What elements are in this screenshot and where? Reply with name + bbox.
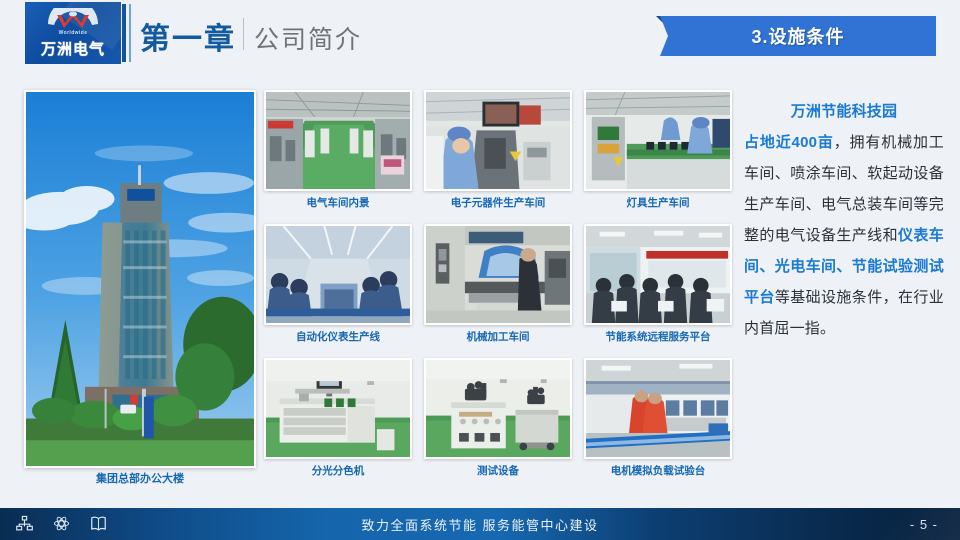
title-divider-thick	[122, 4, 126, 62]
photo-testing-equipment	[424, 358, 572, 459]
photo-spectrophotometer-machine	[264, 358, 412, 459]
logo-subtitle: Worldwide	[25, 30, 121, 36]
photo-illustration	[266, 360, 410, 457]
page-header: Worldwide 万洲电气 第一章 公司简介 3.设施条件	[0, 0, 960, 80]
photo-illustration	[426, 92, 570, 189]
photo-electronic-components-workshop	[424, 90, 572, 191]
photo-illustration	[586, 360, 730, 457]
chapter-separator	[243, 18, 244, 50]
grid-cell-0: 电气车间内景	[264, 90, 412, 210]
grid-cell-6: 分光分色机	[264, 358, 412, 478]
grid-cell-2: 灯具生产车间	[584, 90, 732, 210]
grid-cell-7: 测试设备	[424, 358, 572, 478]
title-divider-thin	[129, 4, 131, 62]
ribbon-label: 3.设施条件	[751, 23, 844, 49]
photo-illustration	[266, 92, 410, 189]
photo-illustration	[586, 92, 730, 189]
photo-machining-workshop	[424, 224, 572, 325]
grid-caption-4: 机械加工车间	[424, 329, 572, 344]
company-logo: Worldwide 万洲电气	[25, 2, 121, 64]
copy-line-6: 等基础设施条件，在行业内首屈一指。	[744, 289, 944, 337]
chapter-subtitle: 公司简介	[254, 20, 362, 56]
w-emblem-icon	[44, 8, 102, 32]
grid-cell-8: 电机模拟负载试验台	[584, 358, 732, 478]
grid-cell-4: 机械加工车间	[424, 224, 572, 344]
copy-line-1: 万洲节能科技园	[744, 96, 944, 127]
photo-motor-load-test-bench	[584, 358, 732, 459]
footer-slogan: 致力全面系统节能 服务能管中心建设	[0, 508, 960, 540]
grid-caption-7: 测试设备	[424, 463, 572, 478]
grid-cell-3: 自动化仪表生产线	[264, 224, 412, 344]
grid-caption-1: 电子元器件生产车间	[424, 195, 572, 210]
facility-photo-grid: 电气车间内景	[264, 90, 732, 482]
photo-illustration	[266, 226, 410, 323]
photo-remote-service-platform	[584, 224, 732, 325]
headquarters-illustration	[26, 92, 254, 466]
page-footer: 致力全面系统节能 服务能管中心建设 - 5 -	[0, 508, 960, 540]
grid-caption-0: 电气车间内景	[264, 195, 412, 210]
grid-caption-8: 电机模拟负载试验台	[584, 463, 732, 478]
description-text: 万洲节能科技园占地近400亩，拥有机械加工车间、喷涂车间、软起动设备生产车间、电…	[744, 96, 944, 344]
grid-caption-2: 灯具生产车间	[584, 195, 732, 210]
hero-photo-caption: 集团总部办公大楼	[24, 470, 256, 486]
photo-lighting-production-workshop	[584, 90, 732, 191]
photo-illustration	[426, 226, 570, 323]
grid-cell-5: 节能系统远程服务平台	[584, 224, 732, 344]
section-ribbon-banner: 3.设施条件	[660, 16, 936, 56]
photo-automated-instrument-line	[264, 224, 412, 325]
grid-cell-1: 电子元器件生产车间	[424, 90, 572, 210]
grid-caption-3: 自动化仪表生产线	[264, 329, 412, 344]
grid-caption-6: 分光分色机	[264, 463, 412, 478]
grid-caption-5: 节能系统远程服务平台	[584, 329, 732, 344]
photo-electrical-workshop-interior	[264, 90, 412, 191]
photo-illustration	[586, 226, 730, 323]
photo-illustration	[426, 360, 570, 457]
hero-photo-headquarters	[24, 90, 256, 468]
chapter-title: 第一章	[140, 14, 236, 58]
copy-line-2: 占地近400亩	[744, 134, 834, 151]
logo-company-name: 万洲电气	[25, 38, 121, 59]
page-number: - 5 -	[910, 508, 938, 540]
